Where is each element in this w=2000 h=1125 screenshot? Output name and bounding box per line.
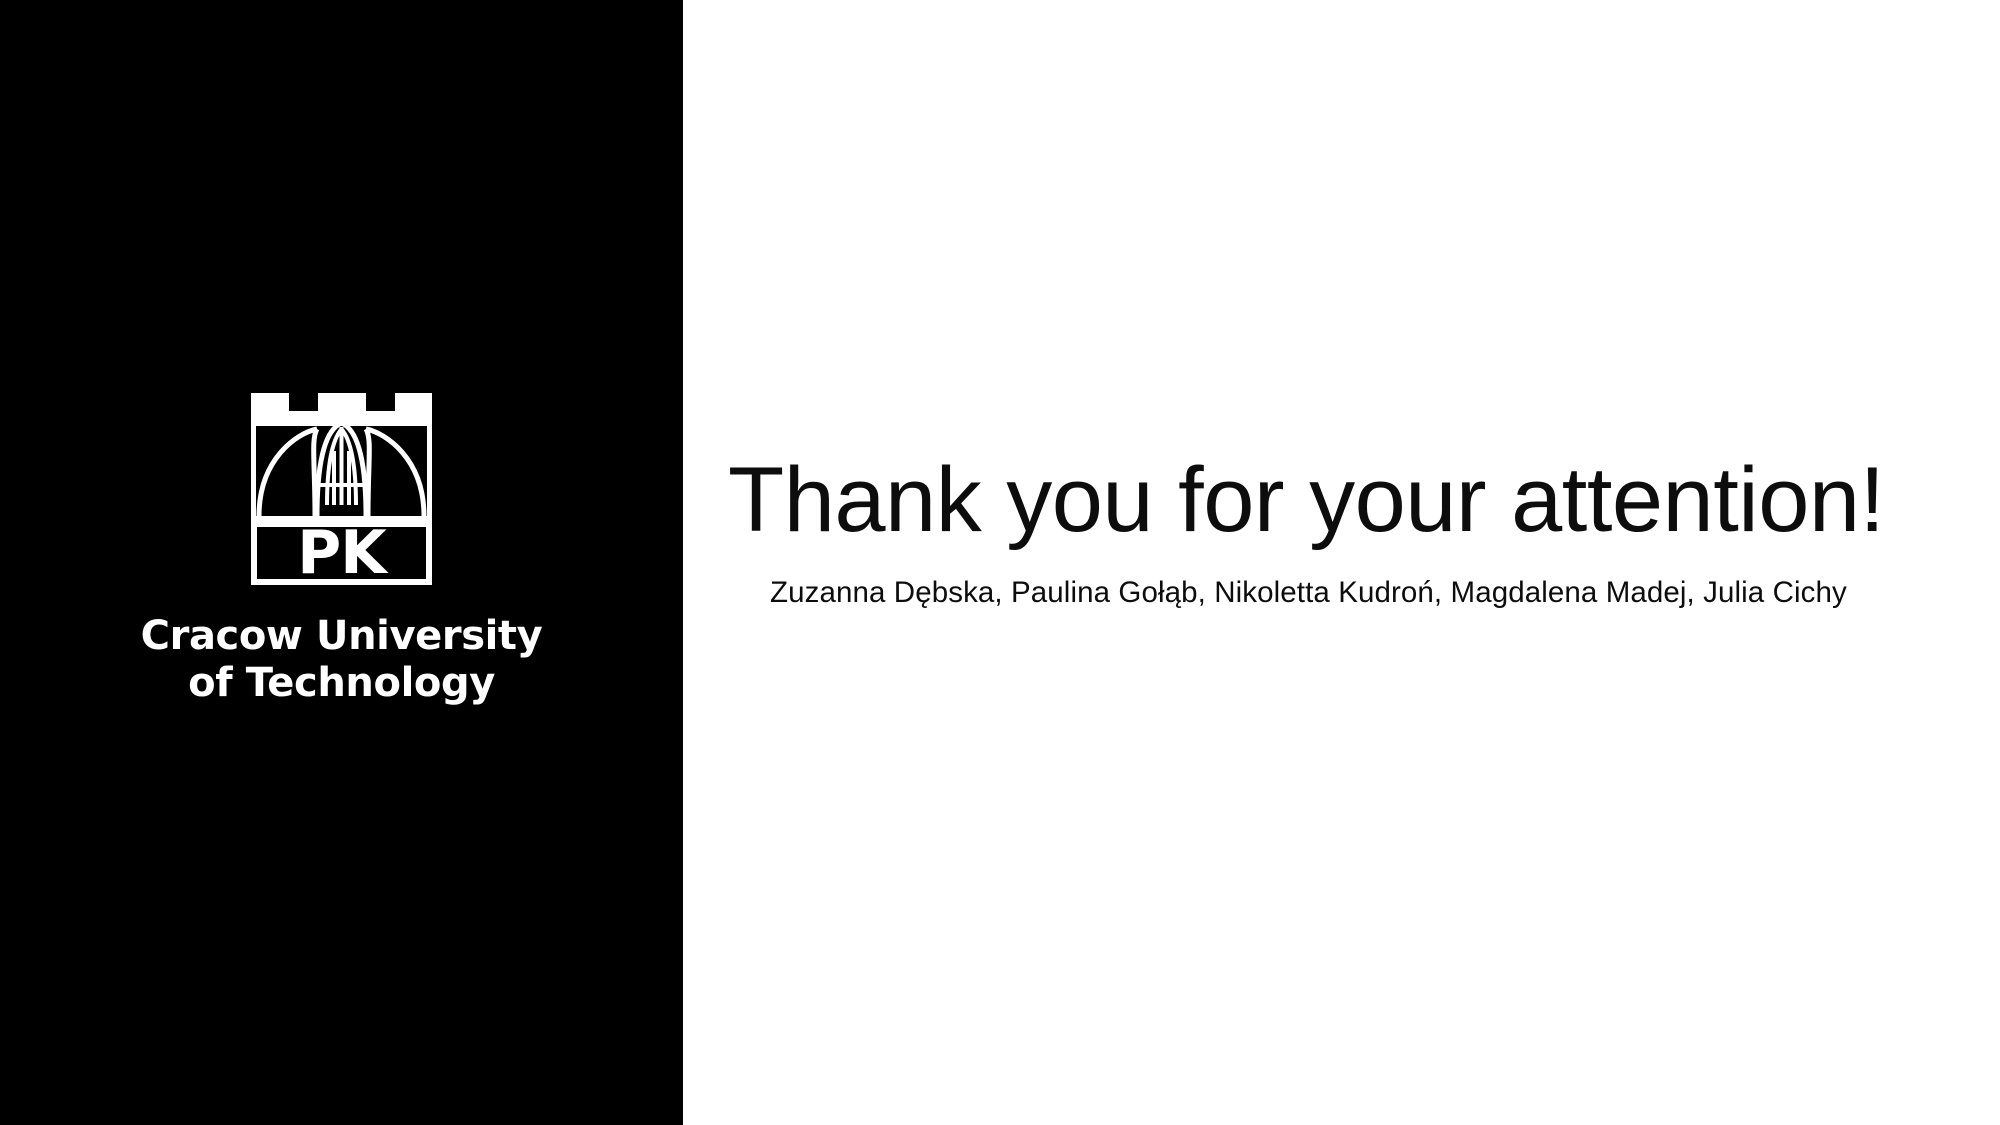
cut-logo-icon: PK: [251, 393, 432, 585]
brand-panel: PK Cracow University of Technology: [0, 0, 683, 1125]
brand-block: PK Cracow University of Technology: [0, 393, 683, 707]
presentation-slide: PK Cracow University of Technology Thank…: [0, 0, 2000, 1125]
svg-text:PK: PK: [297, 518, 389, 585]
author-list: Zuzanna Dębska, Paulina Gołąb, Nikoletta…: [770, 574, 1950, 612]
brand-name-line-1: Cracow University: [0, 613, 683, 660]
content-area: Thank you for your attention! Zuzanna Dę…: [683, 0, 2000, 1125]
slide-headline: Thank you for your attention!: [728, 452, 1958, 550]
brand-name-line-2: of Technology: [0, 660, 683, 707]
brand-name: Cracow University of Technology: [0, 613, 683, 707]
